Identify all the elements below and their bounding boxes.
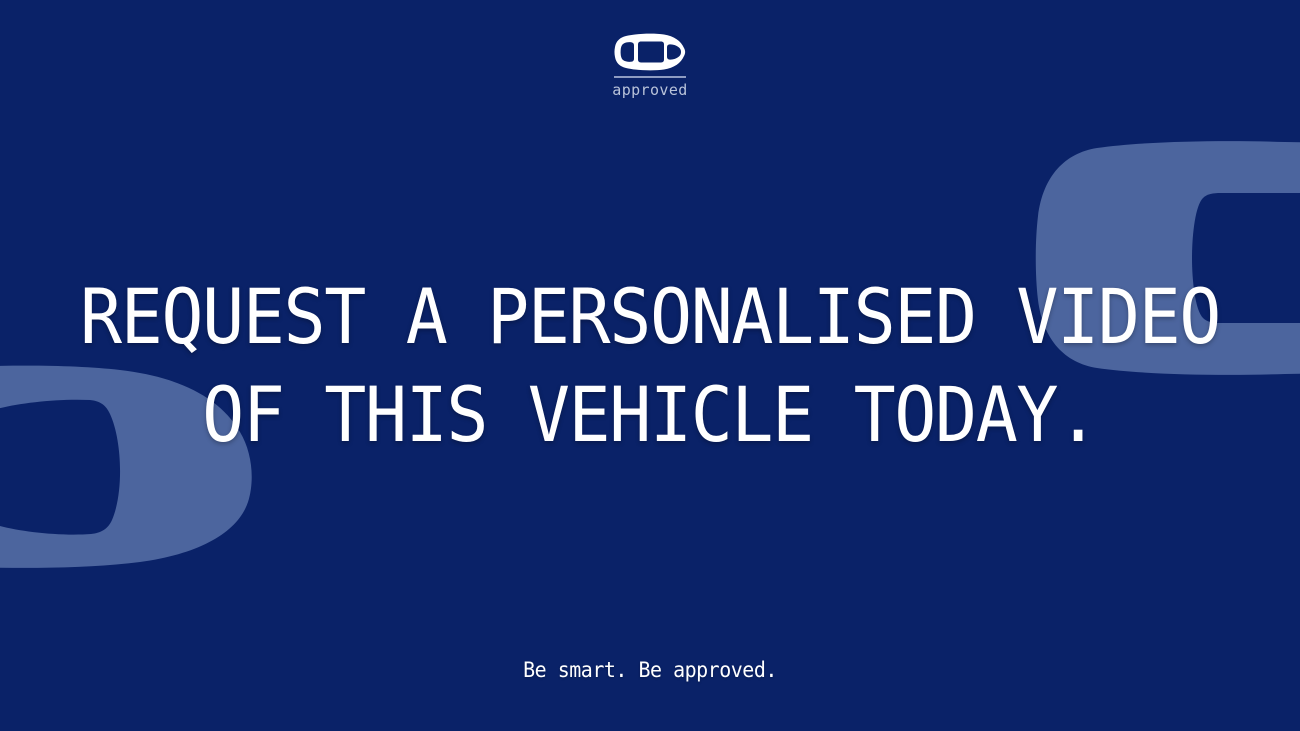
brand-logo: approved <box>0 33 1300 99</box>
car-top-view-icon <box>614 33 686 71</box>
brand-divider-rule <box>614 76 686 78</box>
promotional-slide: approved REQUEST A PERSONALISED VIDEO OF… <box>0 0 1300 731</box>
headline-line-2: OF THIS VEHICLE TODAY. <box>52 366 1248 464</box>
headline-line-1: REQUEST A PERSONALISED VIDEO <box>52 268 1248 366</box>
brand-wordmark: approved <box>612 81 687 99</box>
brand-tagline: Be smart. Be approved. <box>33 655 1268 685</box>
page-title: REQUEST A PERSONALISED VIDEO OF THIS VEH… <box>0 268 1300 464</box>
